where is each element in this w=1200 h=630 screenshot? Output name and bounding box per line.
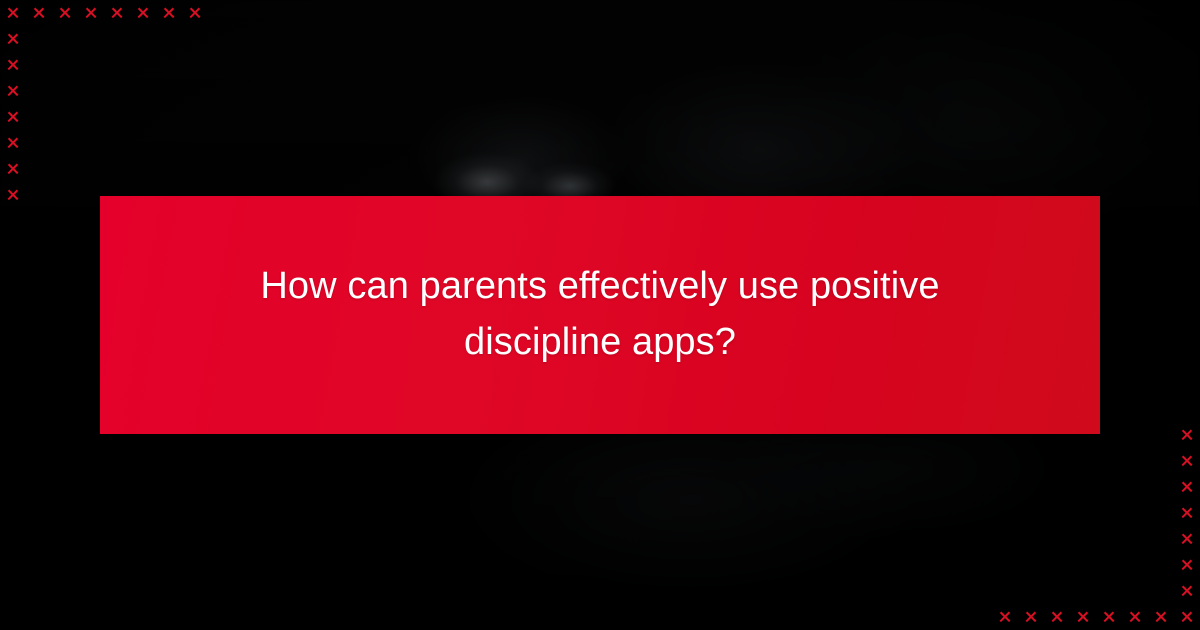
decor-x-icon [182,0,208,26]
decor-x-icon [992,604,1018,630]
decor-x-icon [0,130,26,156]
decor-x-icon [1148,604,1174,630]
decor-x-icon [0,26,26,52]
decor-x-pattern-top-row [0,0,208,26]
decor-x-icon [1174,474,1200,500]
decor-x-icon [26,0,52,26]
decor-x-pattern-left-column [0,26,26,208]
decor-x-icon [1174,500,1200,526]
decor-x-icon [1122,604,1148,630]
decor-x-pattern-right-column [1174,422,1200,604]
decor-x-icon [130,0,156,26]
decor-x-icon [0,78,26,104]
decor-x-icon [1070,604,1096,630]
decor-x-icon [1174,552,1200,578]
decor-x-icon [1018,604,1044,630]
decor-x-icon [1174,422,1200,448]
decor-x-icon [1174,448,1200,474]
decor-x-icon [104,0,130,26]
decor-x-icon [1174,578,1200,604]
decor-x-icon [0,182,26,208]
decor-x-icon [1174,526,1200,552]
decor-x-icon [156,0,182,26]
share-card: How can parents effectively use positive… [0,0,1200,630]
decor-x-icon [1174,604,1200,630]
decor-x-icon [52,0,78,26]
headline-text: How can parents effectively use positive… [215,259,985,371]
decor-x-icon [0,0,26,26]
decor-x-icon [0,52,26,78]
decor-x-icon [1096,604,1122,630]
decor-x-icon [0,104,26,130]
headline-banner: How can parents effectively use positive… [100,196,1100,434]
decor-x-icon [78,0,104,26]
decor-x-icon [0,156,26,182]
decor-x-pattern-bottom-row [992,604,1200,630]
decor-x-icon [1044,604,1070,630]
